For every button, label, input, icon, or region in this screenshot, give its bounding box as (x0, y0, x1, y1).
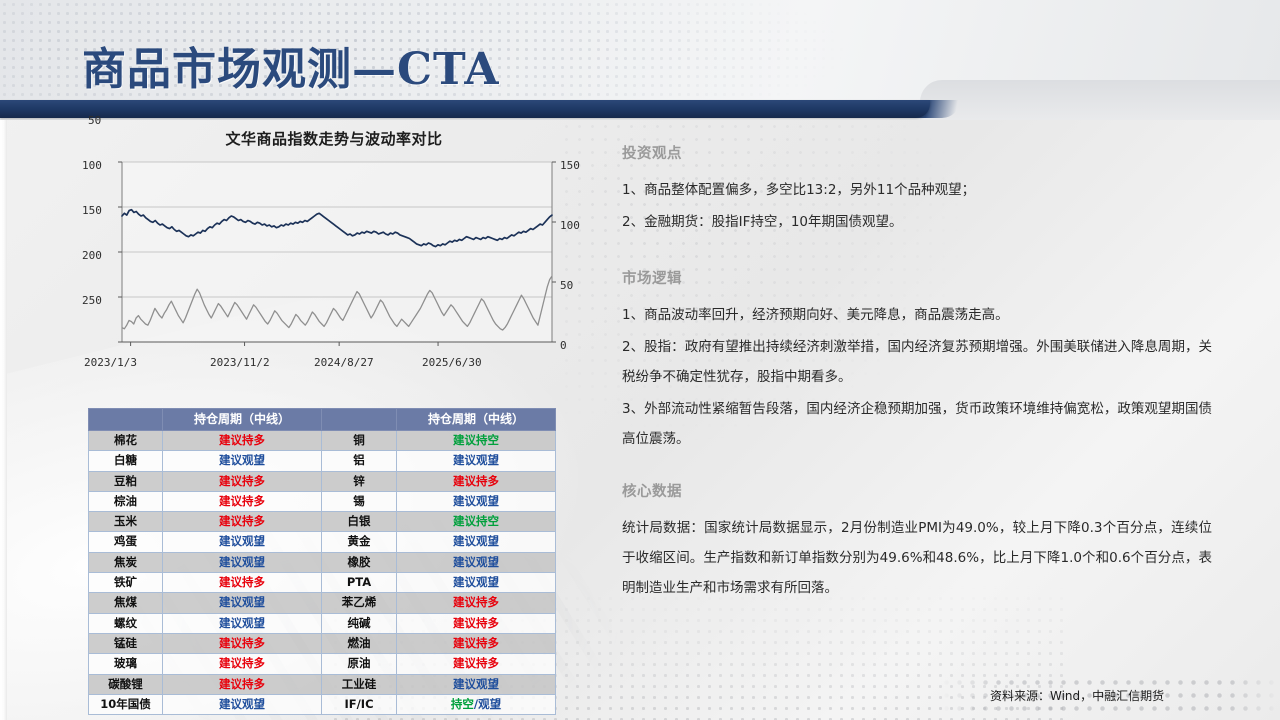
cell-signal-left: 建议持多 (163, 573, 322, 593)
th-blank-left (89, 409, 163, 431)
cell-commodity-left: 螺纹 (89, 613, 163, 633)
y-tick-250: 250 (82, 294, 102, 307)
cell-signal-left: 建议持多 (163, 633, 322, 653)
table-row: 锰硅建议持多燃油建议持多 (89, 633, 556, 653)
cell-signal-right: 建议观望 (397, 573, 556, 593)
cell-commodity-right: PTA (322, 573, 397, 593)
cell-signal-right: 建议观望 (397, 491, 556, 511)
x-tick-2: 2023/11/2 (210, 356, 270, 369)
cell-signal-right: 建议观望 (397, 451, 556, 471)
cell-commodity-right: 锌 (322, 471, 397, 491)
header-shelf-shape (920, 80, 1280, 120)
cell-commodity-left: 玻璃 (89, 654, 163, 674)
cell-signal-left: 建议观望 (163, 593, 322, 613)
cell-commodity-left: 白糖 (89, 451, 163, 471)
cell-signal-left: 建议持多 (163, 654, 322, 674)
cell-commodity-left: 焦炭 (89, 552, 163, 572)
cell-signal-left: 建议观望 (163, 694, 322, 714)
cell-signal-left: 建议观望 (163, 451, 322, 471)
x-tick-4: 2025/6/30 (422, 356, 482, 369)
cell-signal-right: 建议观望 (397, 532, 556, 552)
table-row: 棕油建议持多锡建议观望 (89, 491, 556, 511)
cell-signal-right: 建议持多 (397, 633, 556, 653)
cell-commodity-right: 铜 (322, 431, 397, 451)
cell-commodity-right: 橡胶 (322, 552, 397, 572)
table-row: 棉花建议持多铜建议持空 (89, 431, 556, 451)
x-tick-1: 2023/1/3 (84, 356, 137, 369)
table-row: 玻璃建议持多原油建议持多 (89, 654, 556, 674)
header-accent-bar (0, 100, 930, 118)
cell-commodity-left: 碳酸锂 (89, 674, 163, 694)
cell-signal-left: 建议持多 (163, 512, 322, 532)
cell-signal-left: 建议持多 (163, 431, 322, 451)
section-heading-logic: 市场逻辑 (622, 267, 1212, 288)
signal-table-body: 棉花建议持多铜建议持空白糖建议观望铝建议观望豆粕建议持多锌建议持多棕油建议持多锡… (89, 431, 556, 715)
cell-commodity-left: 玉米 (89, 512, 163, 532)
cell-commodity-left: 鸡蛋 (89, 532, 163, 552)
table-row: 鸡蛋建议观望黄金建议观望 (89, 532, 556, 552)
table-row: 10年国债建议观望IF/IC持空/观望 (89, 694, 556, 714)
table-row: 豆粕建议持多锌建议持多 (89, 471, 556, 491)
cell-commodity-right: 锡 (322, 491, 397, 511)
cell-commodity-right: 白银 (322, 512, 397, 532)
table-row: 碳酸锂建议持多工业硅建议观望 (89, 674, 556, 694)
chart-plot-area: 250 200 150 100 50 150 100 50 0 2023/1/3… (74, 152, 594, 374)
cell-signal-right: 建议持多 (397, 654, 556, 674)
table-row: 焦炭建议观望橡胶建议观望 (89, 552, 556, 572)
cell-commodity-left: 焦煤 (89, 593, 163, 613)
slide-header: 商品市场观测—CTA (0, 0, 1280, 120)
cell-commodity-left: 10年国债 (89, 694, 163, 714)
cell-signal-right: 建议观望 (397, 552, 556, 572)
cell-commodity-left: 豆粕 (89, 471, 163, 491)
th-blank-right (322, 409, 397, 431)
cell-signal-left: 建议观望 (163, 532, 322, 552)
cell-signal-left: 建议观望 (163, 613, 322, 633)
y-tick-100: 100 (82, 159, 102, 172)
signal-table: 持仓周期（中线） 持仓周期（中线） 棉花建议持多铜建议持空白糖建议观望铝建议观望… (88, 408, 556, 715)
cell-signal-right: 建议持多 (397, 593, 556, 613)
spacer-1 (622, 239, 1212, 267)
y2-tick-0: 0 (560, 339, 567, 352)
th-period-right: 持仓周期（中线） (397, 409, 556, 431)
y2-tick-100: 100 (560, 219, 580, 232)
cell-commodity-right: IF/IC (322, 694, 397, 714)
core-item-1: 统计局数据：国家统计局数据显示，2月份制造业PMI为49.0%，较上月下降0.3… (622, 513, 1212, 603)
table-row: 白糖建议观望铝建议观望 (89, 451, 556, 471)
y2-tick-50: 50 (560, 279, 573, 292)
cell-signal-right: 建议持空 (397, 512, 556, 532)
y-tick-150: 150 (82, 204, 102, 217)
cell-signal-right: 建议观望 (397, 674, 556, 694)
commentary-column: 投资观点 1、商品整体配置偏多，多空比13:2，另外11个品种观望； 2、金融期… (622, 142, 1212, 605)
cell-signal-left: 建议持多 (163, 491, 322, 511)
cell-signal-right: 建议持空 (397, 431, 556, 451)
x-tick-3: 2024/8/27 (314, 356, 374, 369)
table-row: 螺纹建议观望纯碱建议持多 (89, 613, 556, 633)
cell-commodity-right: 纯碱 (322, 613, 397, 633)
table-header-row: 持仓周期（中线） 持仓周期（中线） (89, 409, 556, 431)
y-tick-200: 200 (82, 249, 102, 262)
section-heading-core: 核心数据 (622, 480, 1212, 501)
cell-commodity-right: 铝 (322, 451, 397, 471)
cell-commodity-left: 棕油 (89, 491, 163, 511)
cell-commodity-left: 锰硅 (89, 633, 163, 653)
cell-signal-left: 建议持多 (163, 674, 322, 694)
slide-root: 商品市场观测—CTA 文华商品指数走势与波动率对比 250 200 150 10… (0, 0, 1280, 720)
cell-signal-right: 建议持多 (397, 471, 556, 491)
logic-item-2: 2、股指：政府有望推出持续经济刺激举措，国内经济复苏预期增强。外围美联储进入降息… (622, 332, 1212, 392)
signal-table-wrapper: 持仓周期（中线） 持仓周期（中线） 棉花建议持多铜建议持空白糖建议观望铝建议观望… (88, 408, 555, 715)
y-tick-50: 50 (88, 114, 101, 127)
cell-commodity-right: 原油 (322, 654, 397, 674)
page-title: 商品市场观测—CTA (82, 33, 500, 97)
cell-commodity-left: 棉花 (89, 431, 163, 451)
chart-panel: 文华商品指数走势与波动率对比 250 200 150 100 50 150 10… (74, 128, 594, 390)
cell-signal-right: 建议持多 (397, 613, 556, 633)
cell-commodity-right: 工业硅 (322, 674, 397, 694)
spacer-2 (622, 456, 1212, 480)
view-item-1: 1、商品整体配置偏多，多空比13:2，另外11个品种观望； (622, 175, 1212, 205)
logic-item-3: 3、外部流动性紧缩暂告段落，国内经济企稳预期加强，货币政策环境维持偏宽松，政策观… (622, 394, 1212, 454)
view-item-2: 2、金融期货：股指IF持空，10年期国债观望。 (622, 207, 1212, 237)
cell-commodity-left: 铁矿 (89, 573, 163, 593)
cell-signal-right: 持空/观望 (397, 694, 556, 714)
logic-item-1: 1、商品波动率回升，经济预期向好、美元降息，商品震荡走高。 (622, 300, 1212, 330)
table-row: 焦煤建议观望苯乙烯建议持多 (89, 593, 556, 613)
th-period-left: 持仓周期（中线） (163, 409, 322, 431)
chart-svg (74, 152, 594, 374)
table-row: 玉米建议持多白银建议持空 (89, 512, 556, 532)
cell-signal-left: 建议持多 (163, 471, 322, 491)
section-heading-view: 投资观点 (622, 142, 1212, 163)
cell-commodity-right: 苯乙烯 (322, 593, 397, 613)
cell-commodity-right: 黄金 (322, 532, 397, 552)
footer-source: 资料来源：Wind，中融汇信期货 (990, 687, 1164, 704)
chart-title: 文华商品指数走势与波动率对比 (74, 128, 594, 149)
cell-commodity-right: 燃油 (322, 633, 397, 653)
cell-signal-left: 建议观望 (163, 552, 322, 572)
table-row: 铁矿建议持多PTA建议观望 (89, 573, 556, 593)
y2-tick-150: 150 (560, 159, 580, 172)
